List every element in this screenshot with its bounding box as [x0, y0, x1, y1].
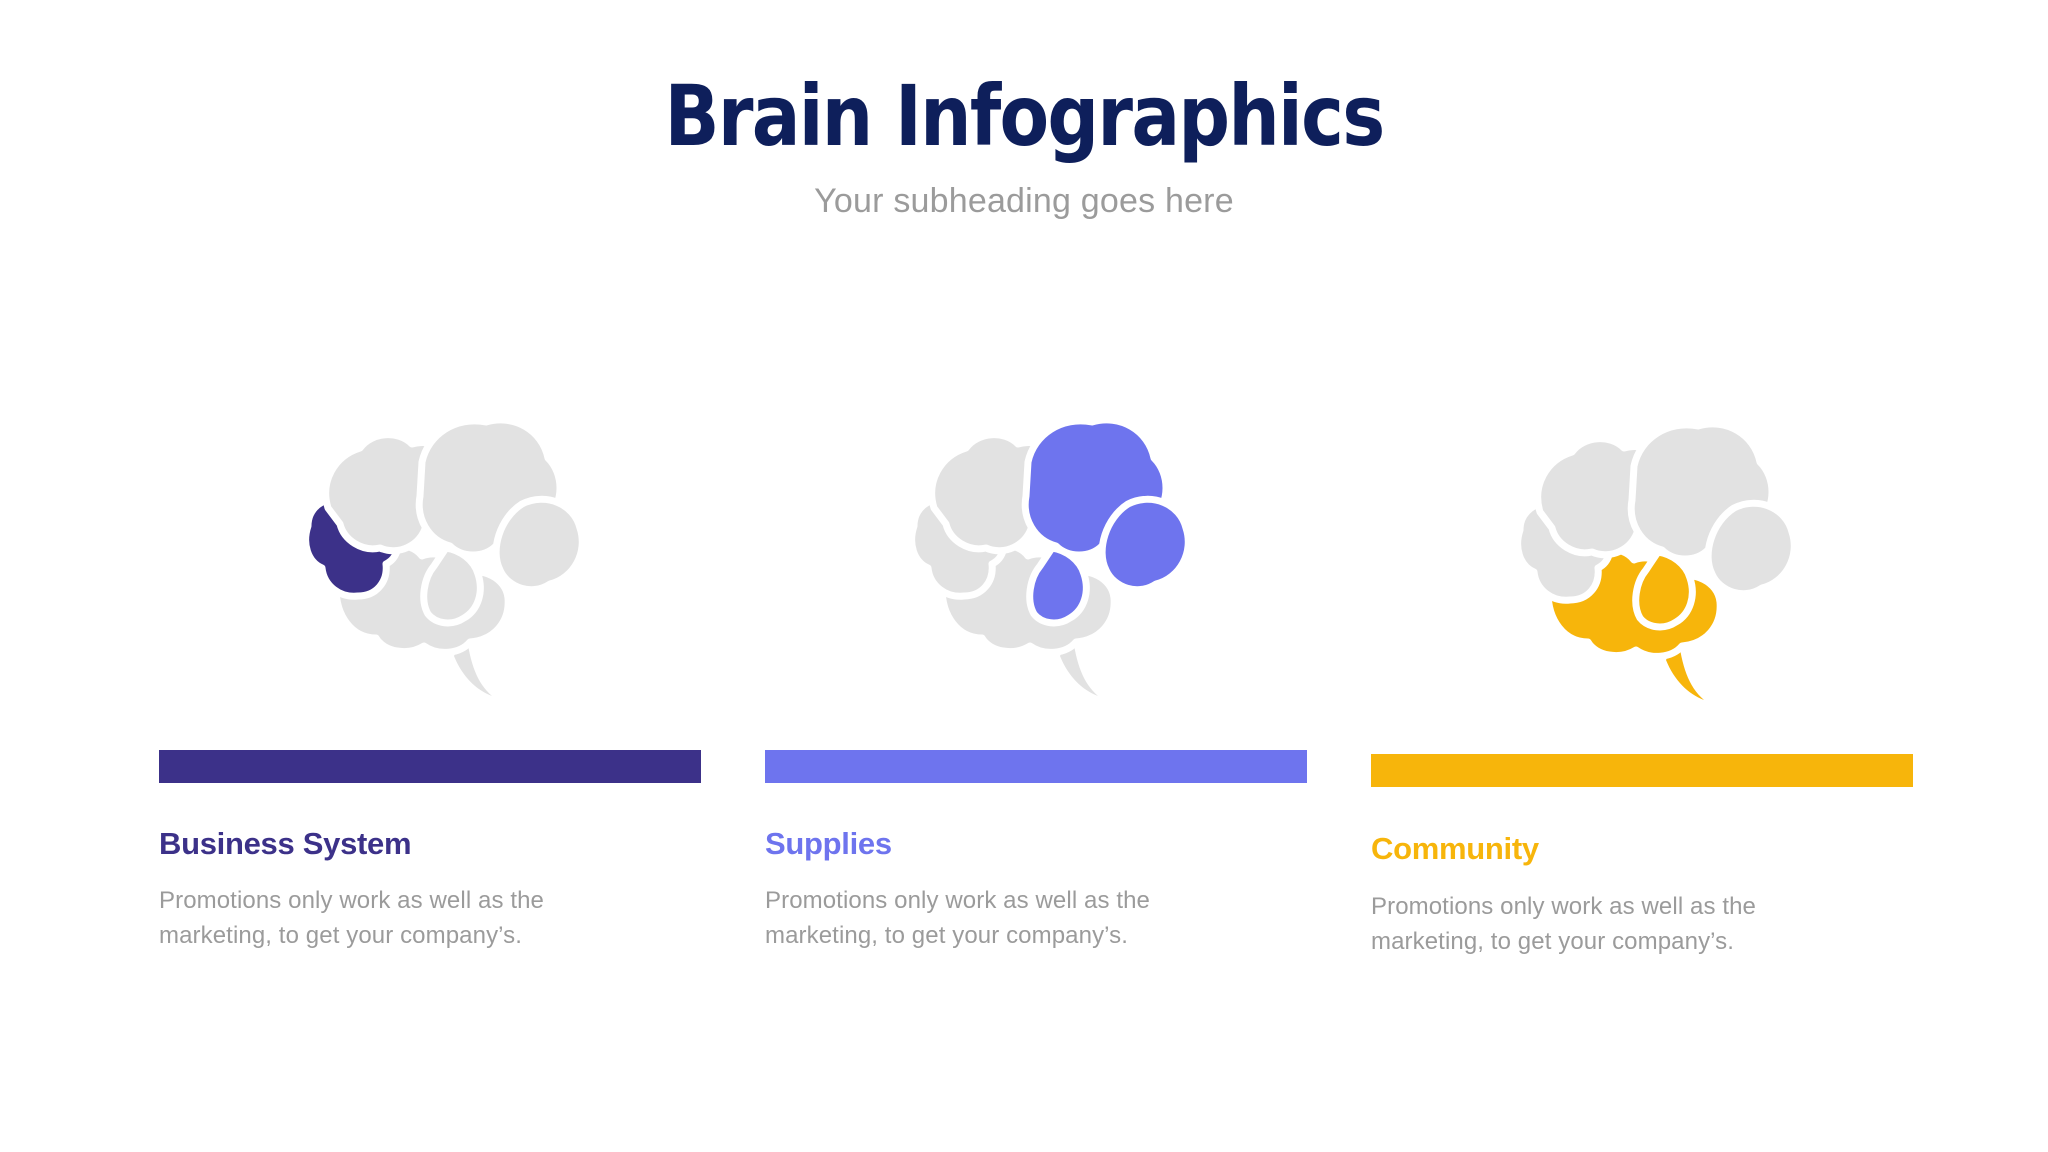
brain-icon	[270, 400, 600, 700]
column-body-text: Promotions only work as well as the mark…	[159, 883, 639, 953]
brain-illustration-3	[1371, 400, 1913, 704]
slide-root: Brain Infographics Your subheading goes …	[0, 0, 2048, 1152]
column-community[interactable]: Community Promotions only work as well a…	[1371, 400, 1913, 1020]
column-business-system[interactable]: Business System Promotions only work as …	[159, 400, 701, 1020]
column-body-text: Promotions only work as well as the mark…	[1371, 889, 1851, 959]
page-subtitle: Your subheading goes here	[0, 182, 2048, 221]
accent-bar	[159, 750, 701, 783]
accent-bar	[1371, 754, 1913, 787]
brain-illustration-1	[159, 400, 701, 700]
header: Brain Infographics Your subheading goes …	[0, 72, 2048, 221]
page-title: Brain Infographics	[143, 72, 1904, 160]
column-title: Business System	[159, 827, 701, 861]
accent-bar	[765, 750, 1307, 783]
columns-container: Business System Promotions only work as …	[0, 400, 2048, 1020]
column-title: Community	[1371, 832, 1913, 866]
brain-icon	[1482, 404, 1812, 704]
column-body-text: Promotions only work as well as the mark…	[765, 883, 1245, 953]
column-title: Supplies	[765, 827, 1307, 861]
column-supplies[interactable]: Supplies Promotions only work as well as…	[765, 400, 1307, 1020]
brain-icon	[876, 400, 1206, 700]
brain-illustration-2	[765, 400, 1307, 700]
